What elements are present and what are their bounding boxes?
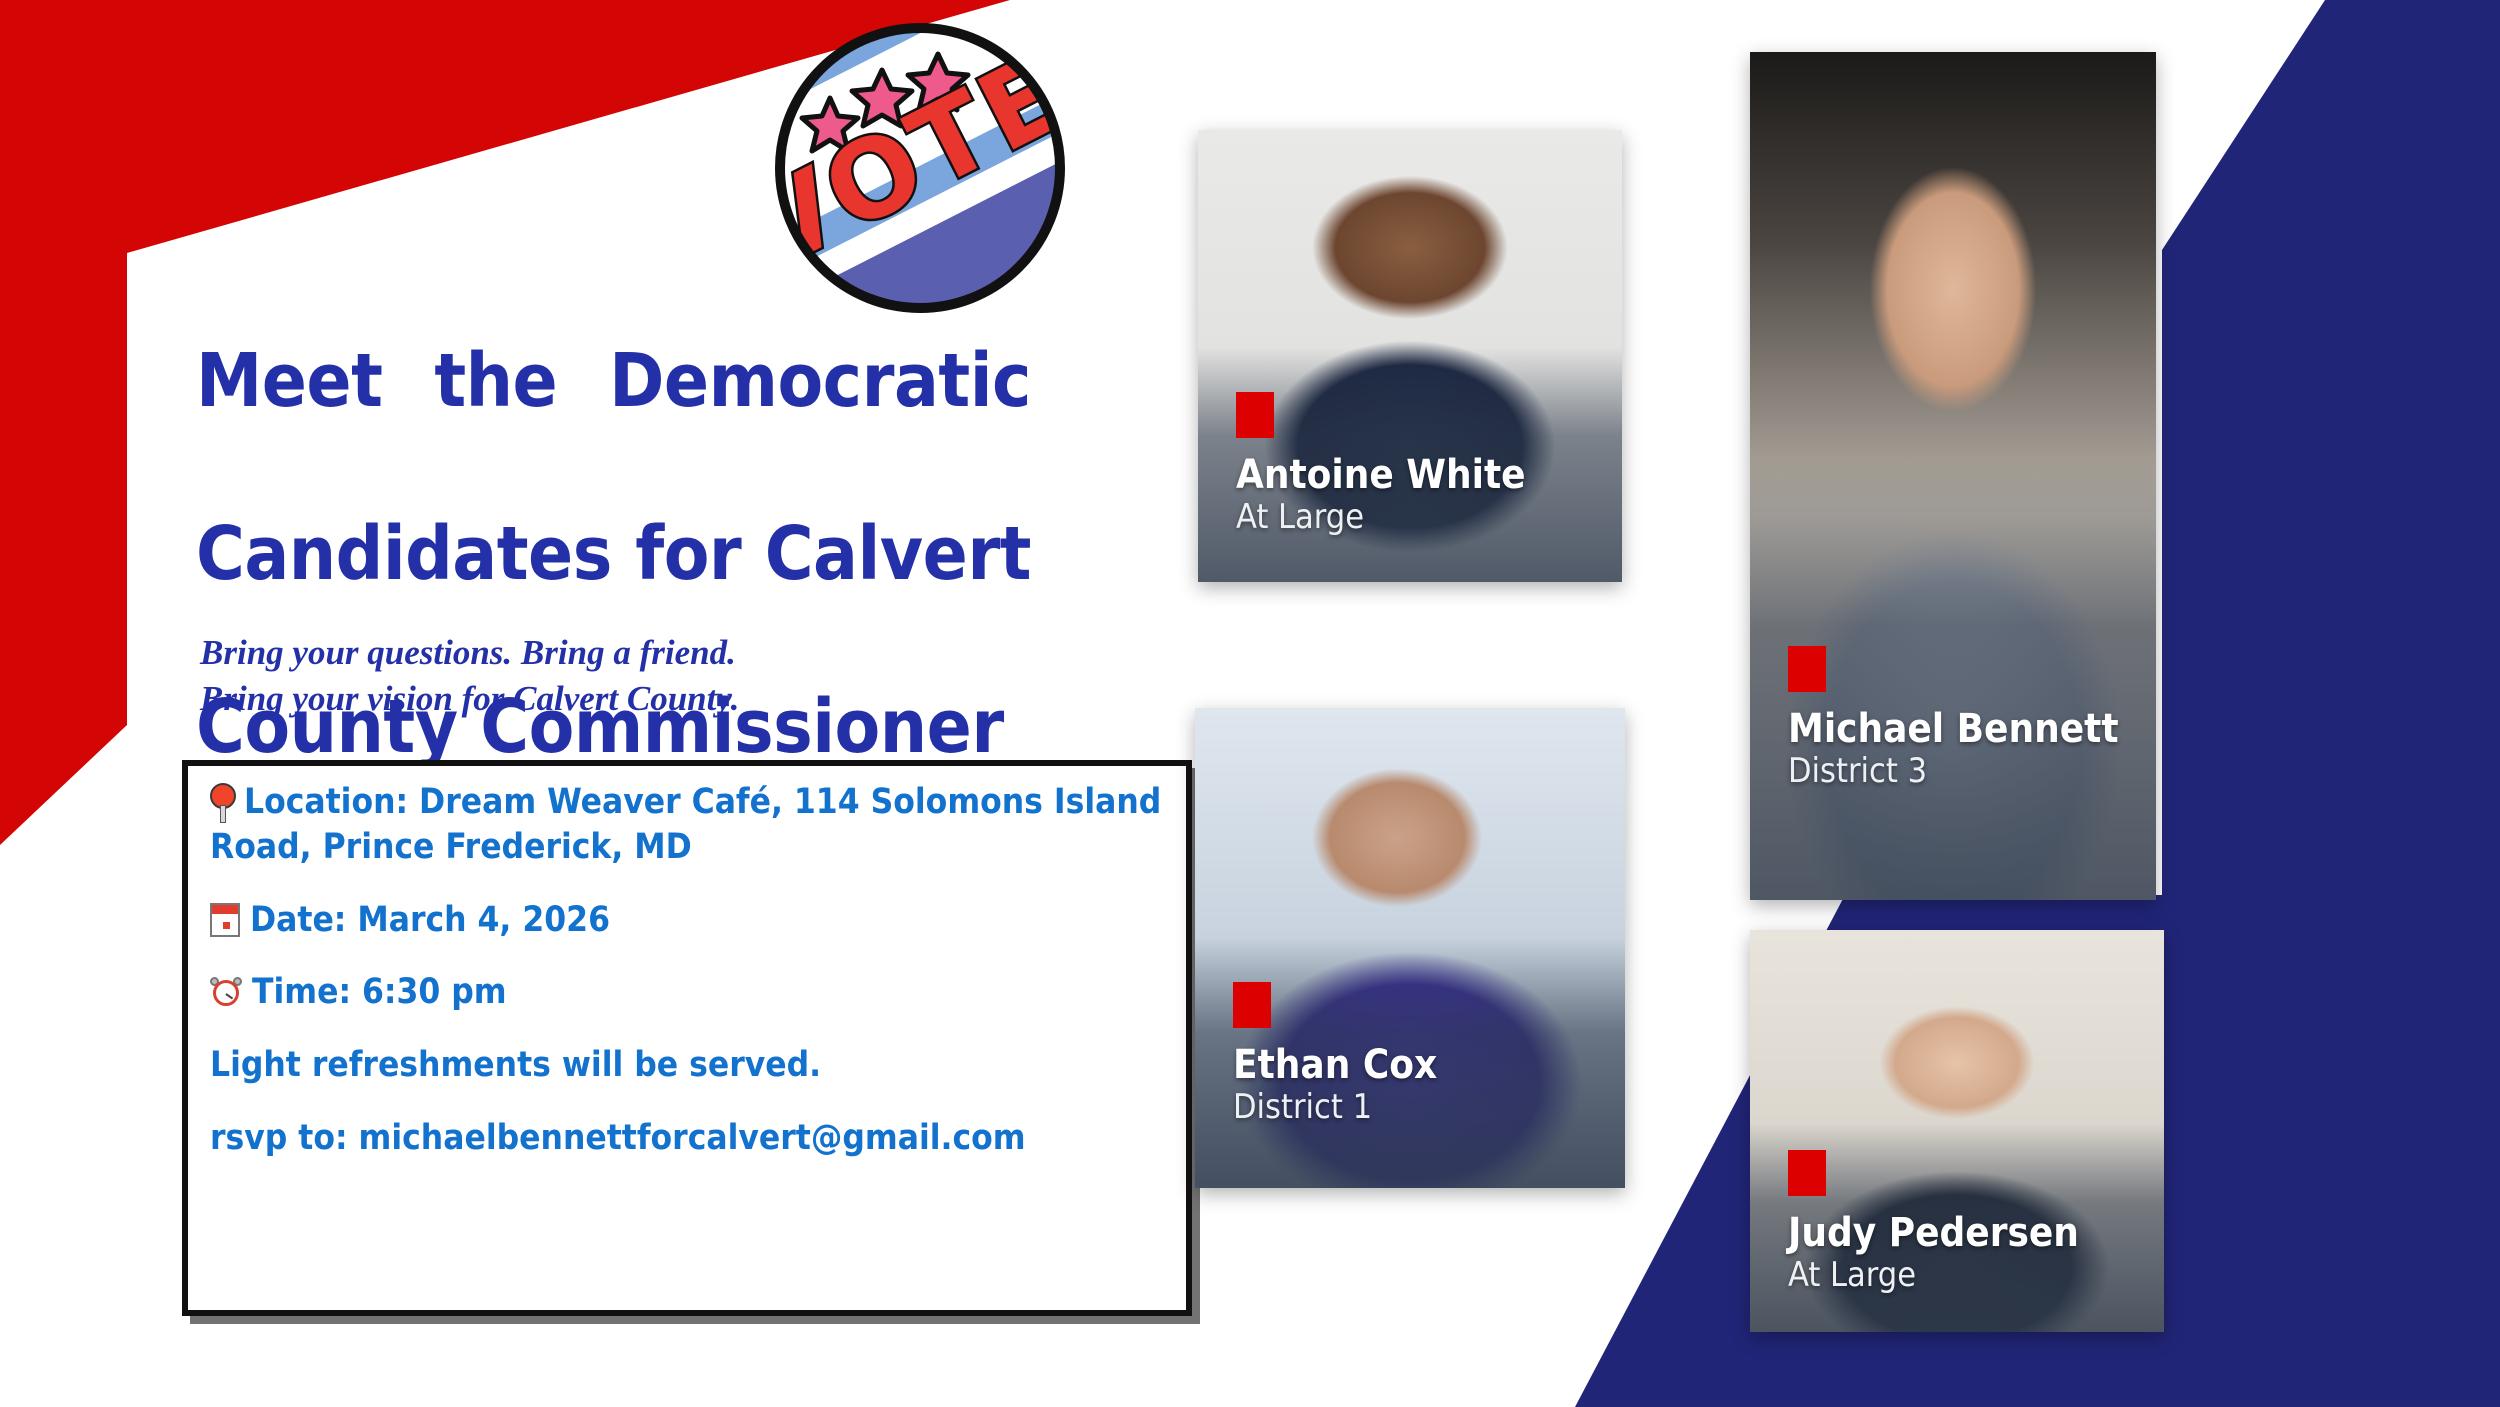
candidate-role: District 3: [1788, 750, 2156, 793]
candidate-card: Judy Pedersen At Large: [1750, 930, 2164, 1332]
detail-row-refreshments: Light refreshments will be served.: [210, 1043, 1172, 1088]
location-text: Location: Dream Weaver Café, 114 Solomon…: [210, 782, 1161, 867]
detail-row-location: Location: Dream Weaver Café, 114 Solomon…: [210, 780, 1172, 870]
candidate-role: At Large: [1788, 1254, 2164, 1297]
navy-top-right-shape: [2162, 0, 2500, 1407]
candidate-name: Ethan Cox: [1233, 1044, 1625, 1086]
candidate-card: Michael Bennett District 3: [1750, 52, 2156, 900]
candidate-name: Michael Bennett: [1788, 708, 2156, 750]
candidate-name: Judy Pedersen: [1788, 1212, 2164, 1254]
candidate-name: Antoine White: [1236, 454, 1622, 496]
detail-row-date: Date: March 4, 2026: [210, 898, 1172, 943]
campaign-event-flyer: VOTE Meet the Democratic Candidates for …: [0, 0, 2500, 1407]
vote-badge-icon: VOTE: [770, 18, 1070, 318]
detail-row-time: Time: 6:30 pm: [210, 970, 1172, 1015]
red-accent-square: [1236, 392, 1274, 438]
refreshments-text: Light refreshments will be served.: [210, 1045, 821, 1085]
calendar-icon: [210, 903, 240, 937]
candidate-card: Ethan Cox District 1: [1195, 708, 1625, 1188]
red-accent-square: [1233, 982, 1271, 1028]
headline-line-1: Meet the Democratic: [196, 338, 1031, 511]
location-pin-icon: [210, 783, 236, 823]
red-accent-square: [1788, 646, 1826, 692]
tagline-line-1: Bring your questions. Bring a friend.: [200, 630, 1100, 676]
rsvp-email-text[interactable]: rsvp to: michaelbennettforcalvert@gmail.…: [210, 1118, 1026, 1158]
candidate-role: At Large: [1236, 496, 1622, 539]
alarm-clock-icon: [210, 977, 242, 1009]
candidate-role: District 1: [1233, 1086, 1625, 1129]
date-text: Date: March 4, 2026: [250, 900, 610, 940]
tagline: Bring your questions. Bring a friend. Br…: [200, 630, 1100, 722]
detail-row-rsvp[interactable]: rsvp to: michaelbennettforcalvert@gmail.…: [210, 1116, 1172, 1161]
red-accent-square: [1788, 1150, 1826, 1196]
time-text: Time: 6:30 pm: [252, 972, 507, 1012]
tagline-line-2: Bring your vision for Calvert County.: [200, 676, 1100, 722]
event-details-box: Location: Dream Weaver Café, 114 Solomon…: [182, 760, 1192, 1316]
candidate-card: Antoine White At Large: [1198, 130, 1622, 582]
